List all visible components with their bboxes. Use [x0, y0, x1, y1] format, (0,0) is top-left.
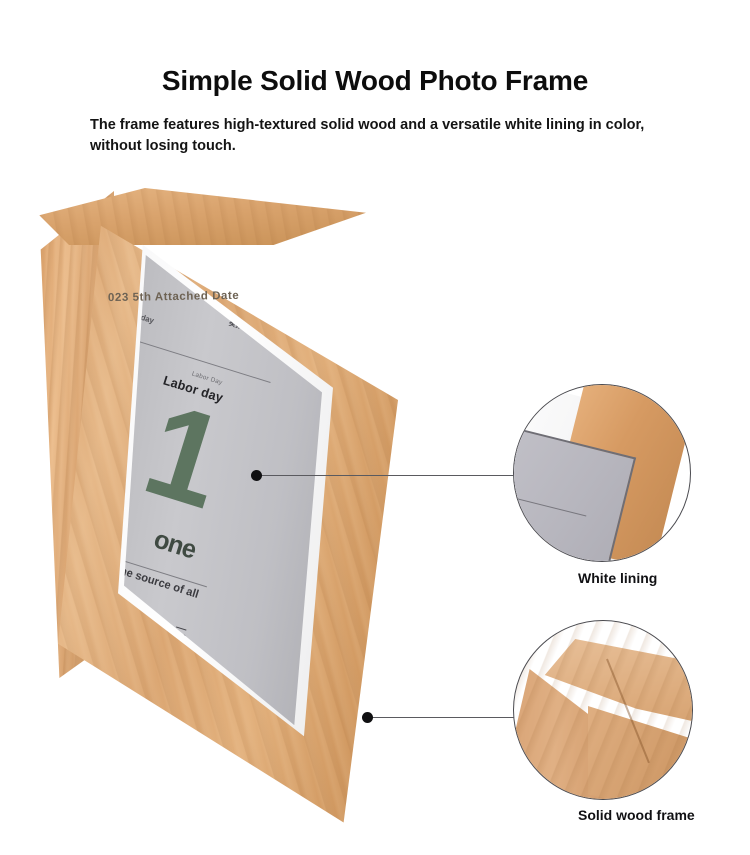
date-overlay-text: 023 5th Attached Date	[108, 290, 239, 304]
page-title: Simple Solid Wood Photo Frame	[0, 0, 750, 97]
callout-circle-white-lining	[513, 384, 691, 562]
leader-dot-white-lining	[251, 470, 262, 481]
frame-top-face	[36, 183, 366, 245]
header: Simple Solid Wood Photo Frame The frame …	[0, 0, 750, 157]
callout-label-solid-wood: Solid wood frame	[578, 806, 698, 824]
leader-line-solid-wood	[368, 717, 514, 718]
leader-line-white-lining	[258, 475, 514, 476]
leader-dot-solid-wood	[362, 712, 373, 723]
callout-label-white-lining: White lining	[578, 569, 657, 587]
callout-circle-solid-wood	[513, 620, 693, 800]
product-image-photo-frame: 1日 Monday 癸卯年 四月 十三 Labor Day Labor day …	[0, 165, 440, 706]
product-stage: 1日 Monday 癸卯年 四月 十三 Labor Day Labor day …	[0, 165, 750, 706]
page-subtitle: The frame features high-textured solid w…	[80, 97, 670, 157]
